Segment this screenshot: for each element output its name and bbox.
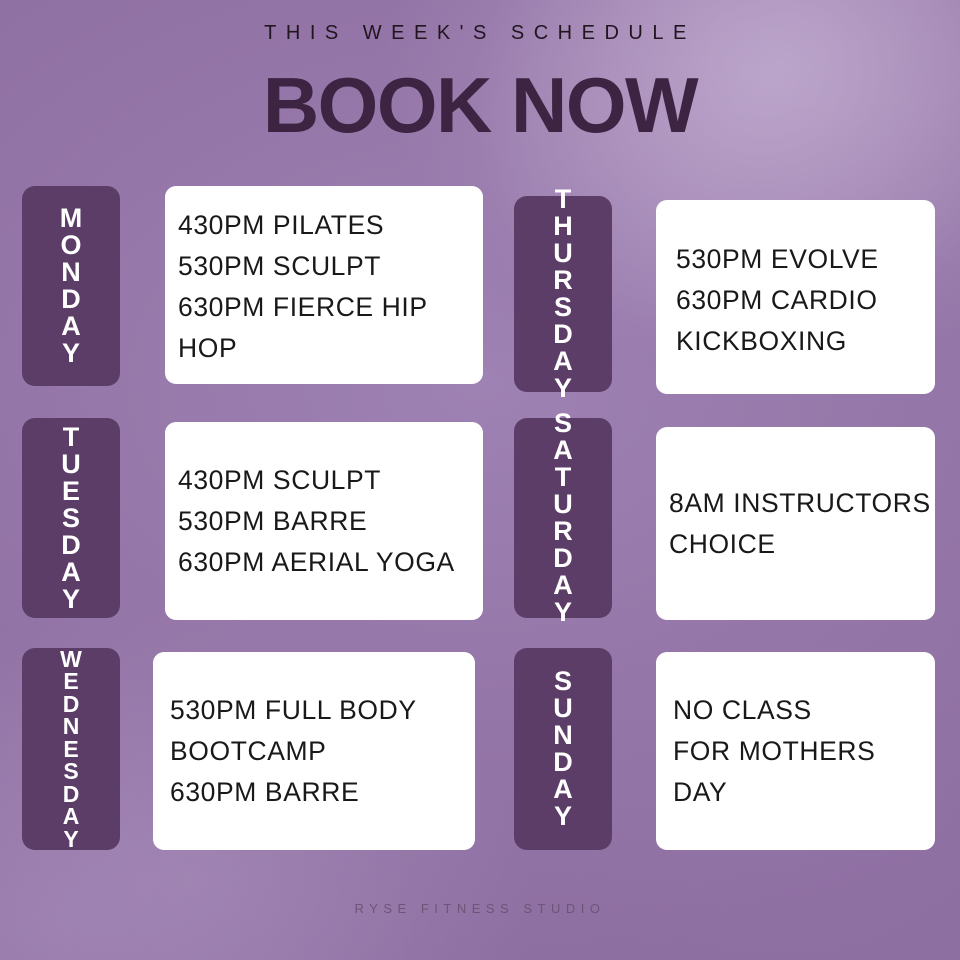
class-line: 430PM PILATES <box>178 205 479 246</box>
day-tab-saturday: SATURDAY <box>514 418 612 618</box>
day-letter: U <box>553 695 573 722</box>
day-letter: D <box>553 749 573 776</box>
day-letter: Y <box>62 586 80 613</box>
class-list-sunday: NO CLASSFOR MOTHERSDAY <box>673 690 931 813</box>
day-letter: Y <box>62 340 80 367</box>
class-card-wednesday[interactable]: 530PM FULL BODYBOOTCAMP630PM BARRE <box>153 652 475 850</box>
class-list-thursday: 530PM EVOLVE630PM CARDIOKICKBOXING <box>676 233 931 362</box>
day-letter: A <box>63 805 80 828</box>
class-line: NO CLASS <box>673 690 931 731</box>
kicker-text: THIS WEEK'S SCHEDULE <box>0 22 960 45</box>
day-letter: N <box>63 715 80 738</box>
day-letter: U <box>553 491 573 518</box>
day-letter: D <box>63 693 80 716</box>
class-line: 630PM AERIAL YOGA <box>178 542 479 583</box>
day-letter: A <box>553 572 573 599</box>
page-title: BOOK NOW <box>0 66 960 144</box>
day-letter: E <box>62 478 80 505</box>
day-label-sunday: SUNDAY <box>553 668 573 830</box>
day-tab-thursday: THURSDAY <box>514 196 612 392</box>
class-line: 8AM INSTRUCTORS <box>669 483 931 524</box>
class-list-tuesday: 430PM SCULPT530PM BARRE630PM AERIAL YOGA <box>178 460 479 583</box>
day-label-monday: MONDAY <box>60 205 83 367</box>
day-letter: Y <box>63 828 78 851</box>
class-card-tuesday[interactable]: 430PM SCULPT530PM BARRE630PM AERIAL YOGA <box>165 422 483 620</box>
class-line: BOOTCAMP <box>170 731 471 772</box>
class-card-saturday[interactable]: 8AM INSTRUCTORSCHOICE <box>656 427 935 620</box>
day-letter: D <box>61 532 81 559</box>
day-letter: Y <box>554 803 572 830</box>
day-letter: D <box>61 286 81 313</box>
day-letter: T <box>63 424 80 451</box>
class-card-monday[interactable]: 430PM PILATES530PM SCULPT630PM FIERCE HI… <box>165 186 483 384</box>
day-letter: T <box>555 186 572 213</box>
class-line: DAY <box>673 772 931 813</box>
day-letter: A <box>553 348 573 375</box>
class-card-thursday[interactable]: 530PM EVOLVE630PM CARDIOKICKBOXING <box>656 200 935 394</box>
day-label-saturday: SATURDAY <box>553 410 573 626</box>
class-line: FOR MOTHERS <box>673 731 931 772</box>
class-line: KICKBOXING <box>676 321 931 362</box>
day-letter: U <box>553 240 573 267</box>
class-line: 530PM SCULPT <box>178 246 479 287</box>
class-line: 430PM SCULPT <box>178 460 479 501</box>
day-letter: N <box>553 722 573 749</box>
day-letter: U <box>61 451 81 478</box>
day-letter: Y <box>554 375 572 402</box>
day-letter: Y <box>554 599 572 626</box>
class-line: 530PM EVOLVE <box>676 239 931 280</box>
day-letter: E <box>63 738 78 761</box>
day-tab-sunday: SUNDAY <box>514 648 612 850</box>
day-letter: M <box>60 205 83 232</box>
class-list-saturday: 8AM INSTRUCTORSCHOICE <box>669 483 931 565</box>
day-letter: S <box>554 410 572 437</box>
day-tab-wednesday: WEDNESDAY <box>22 648 120 850</box>
day-letter: D <box>553 321 573 348</box>
day-label-tuesday: TUESDAY <box>61 424 81 613</box>
class-list-wednesday: 530PM FULL BODYBOOTCAMP630PM BARRE <box>170 690 471 813</box>
day-letter: R <box>553 518 573 545</box>
day-label-wednesday: WEDNESDAY <box>60 648 82 851</box>
day-letter: D <box>63 783 80 806</box>
class-line: HOP <box>178 328 479 369</box>
day-letter: E <box>63 670 78 693</box>
class-line: CHOICE <box>669 524 931 565</box>
day-label-thursday: THURSDAY <box>553 186 573 402</box>
class-card-sunday[interactable]: NO CLASSFOR MOTHERSDAY <box>656 652 935 850</box>
schedule-poster: THIS WEEK'S SCHEDULE BOOK NOW MONDAY430P… <box>0 0 960 960</box>
day-letter: A <box>61 559 81 586</box>
day-letter: S <box>554 294 572 321</box>
day-letter: D <box>553 545 573 572</box>
studio-credit: RYSE FITNESS STUDIO <box>0 901 960 916</box>
day-letter: A <box>553 437 573 464</box>
day-tab-tuesday: TUESDAY <box>22 418 120 618</box>
class-line: 630PM FIERCE HIP <box>178 287 479 328</box>
day-letter: A <box>553 776 573 803</box>
day-letter: H <box>553 213 573 240</box>
day-letter: S <box>554 668 572 695</box>
day-letter: T <box>555 464 572 491</box>
day-letter: W <box>60 648 82 671</box>
class-line: 530PM FULL BODY <box>170 690 471 731</box>
day-letter: O <box>60 232 81 259</box>
class-line: 630PM CARDIO <box>676 280 931 321</box>
class-line: 530PM BARRE <box>178 501 479 542</box>
day-tab-monday: MONDAY <box>22 186 120 386</box>
day-letter: N <box>61 259 81 286</box>
class-list-monday: 430PM PILATES530PM SCULPT630PM FIERCE HI… <box>178 201 479 369</box>
day-letter: S <box>62 505 80 532</box>
class-line: 630PM BARRE <box>170 772 471 813</box>
day-letter: S <box>63 760 78 783</box>
day-letter: A <box>61 313 81 340</box>
day-letter: R <box>553 267 573 294</box>
